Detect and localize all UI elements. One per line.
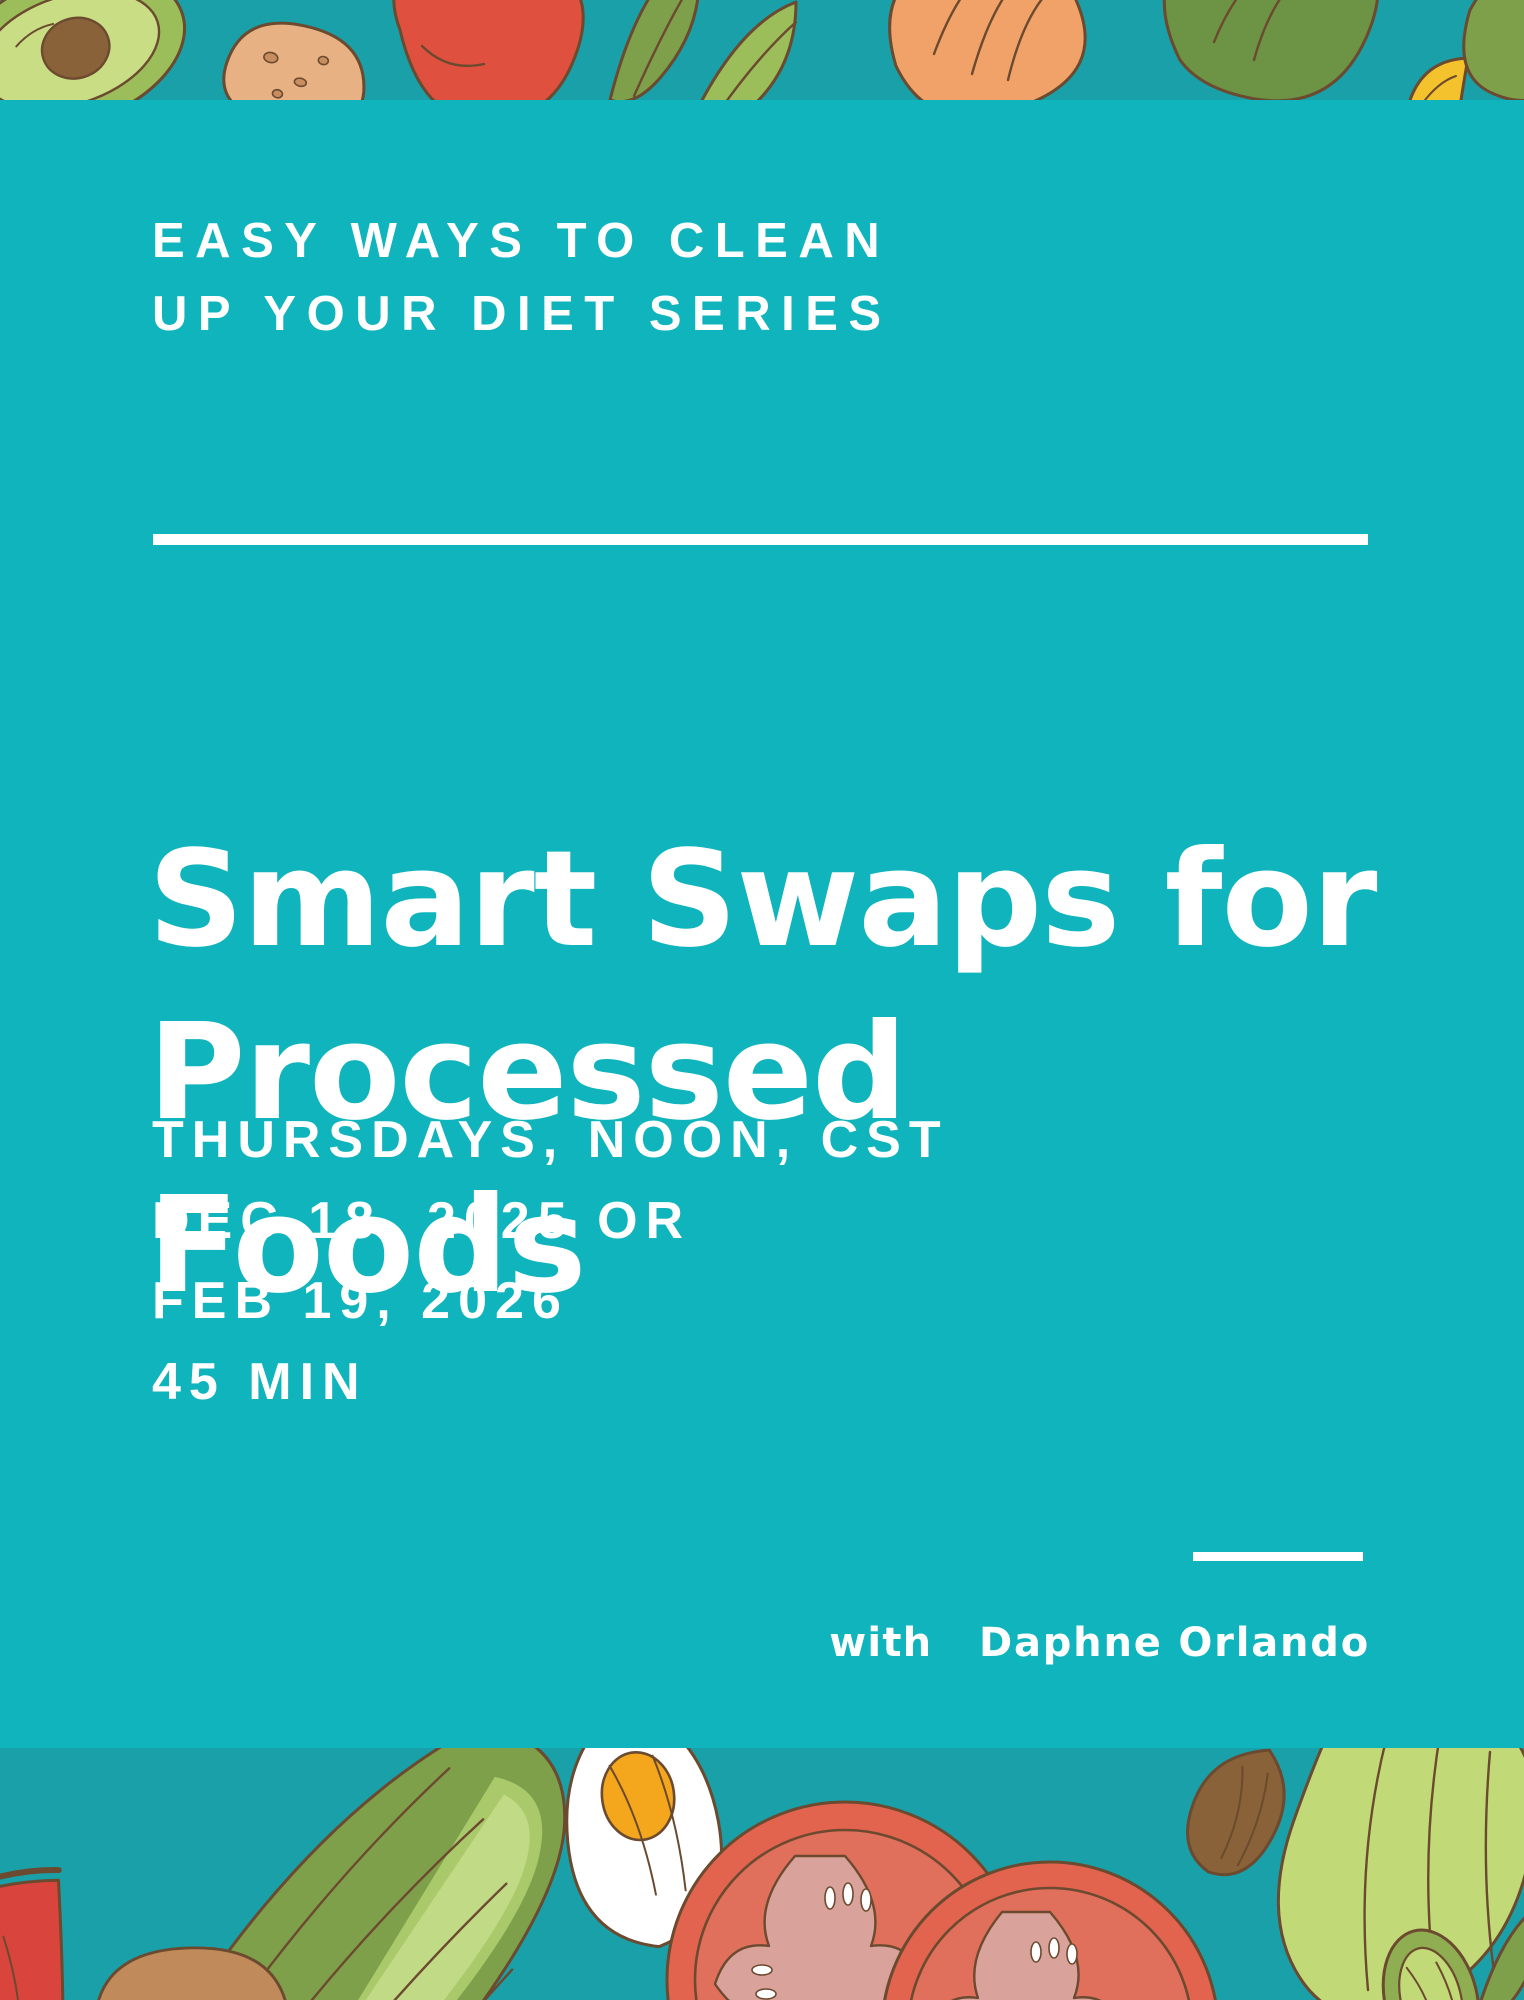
series-eyebrow-line-2: UP YOUR DIET SERIES xyxy=(152,278,1332,351)
presenter-signature: with Daphne Orlando xyxy=(0,1620,1370,1666)
series-eyebrow-line-1: EASY WAYS TO CLEAN xyxy=(152,214,890,268)
presenter-signature-prefix: with xyxy=(829,1620,932,1666)
divider-rule-top xyxy=(153,534,1368,545)
poster-content: EASY WAYS TO CLEAN UP YOUR DIET SERIES S… xyxy=(0,100,1524,1748)
session-detail-date-option-2: FEB 19, 2026 xyxy=(152,1261,1392,1342)
series-eyebrow: EASY WAYS TO CLEAN UP YOUR DIET SERIES xyxy=(152,205,1332,350)
session-detail-date-option-1: DEC 18, 2025 OR xyxy=(152,1181,1392,1262)
presenter-name: Daphne Orlando xyxy=(979,1620,1370,1666)
page-title-line-1: Smart Swaps for xyxy=(148,814,1388,987)
session-details: THURSDAYS, NOON, CST DEC 18, 2025 OR FEB… xyxy=(152,1100,1392,1422)
divider-rule-bottom xyxy=(1193,1552,1363,1561)
session-detail-schedule: THURSDAYS, NOON, CST xyxy=(152,1100,1392,1181)
session-detail-duration: 45 MIN xyxy=(152,1342,1392,1423)
poster-canvas: EASY WAYS TO CLEAN UP YOUR DIET SERIES S… xyxy=(0,0,1524,2000)
